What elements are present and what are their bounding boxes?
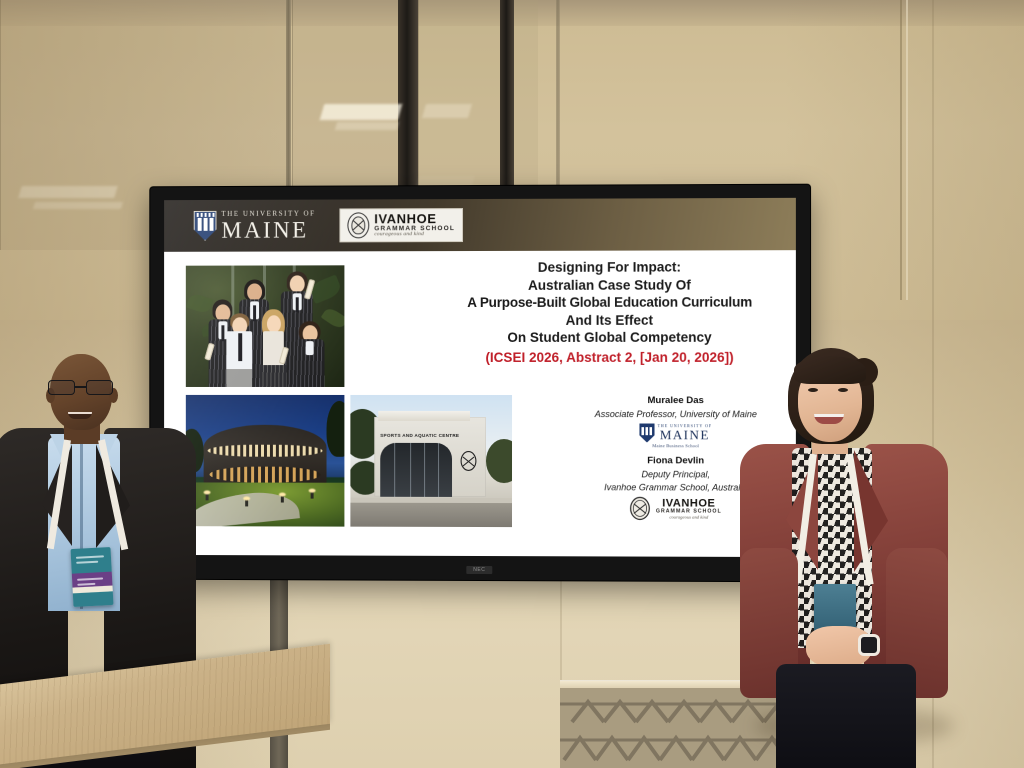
slide-title-line-2: Australian Case Study Of bbox=[430, 276, 790, 294]
slide-title-block: Designing For Impact: Australian Case St… bbox=[430, 258, 790, 366]
right-presenter-trousers bbox=[776, 664, 916, 768]
sports-aquatic-centre-photo: SPORTS AND AQUATIC CENTRE bbox=[350, 395, 512, 527]
umaine-small-shield-icon bbox=[639, 424, 654, 443]
left-presenter-glasses bbox=[48, 380, 116, 395]
umaine-logo-line-small: THE UNIVERSITY OF bbox=[221, 210, 315, 217]
ivanhoe-credits-line3: courageous and kind bbox=[656, 515, 722, 520]
campus-building-night-photo bbox=[186, 395, 345, 527]
presentation-slide: THE UNIVERSITY OF MAINE IVANHOE GRAMMAR … bbox=[164, 198, 796, 557]
slide-title-line-3: A Purpose-Built Global Education Curricu… bbox=[430, 294, 790, 312]
slide-title-line-1: Designing For Impact: bbox=[430, 258, 790, 276]
ivanhoe-crest-small-icon bbox=[630, 497, 651, 521]
ceiling-light-reflection-1 bbox=[320, 104, 403, 120]
ivanhoe-logo-line3: courageous and kind bbox=[374, 232, 455, 238]
ivanhoe-crest-icon bbox=[347, 212, 369, 238]
presenter-right-person bbox=[740, 348, 960, 768]
umaine-small-line-big: MAINE bbox=[658, 429, 712, 442]
display-screen: THE UNIVERSITY OF MAINE IVANHOE GRAMMAR … bbox=[164, 198, 796, 557]
slide-title-line-4: And Its Effect bbox=[430, 311, 790, 329]
slide-title-line-5: On Student Global Competency bbox=[430, 329, 790, 347]
ivanhoe-logo-line1: IVANHOE bbox=[374, 212, 455, 226]
slide-header-band: THE UNIVERSITY OF MAINE IVANHOE GRAMMAR … bbox=[164, 198, 796, 252]
maine-business-school-caption: Maine Business School bbox=[652, 444, 699, 449]
ivanhoe-grammar-school-logo: IVANHOE GRAMMAR SCHOOL courageous and ki… bbox=[339, 208, 463, 243]
university-of-maine-logo: THE UNIVERSITY OF MAINE bbox=[194, 210, 316, 241]
ivanhoe-credits-logo: IVANHOE GRAMMAR SCHOOL courageous and ki… bbox=[630, 497, 722, 521]
ceiling-light-reflection-3 bbox=[422, 104, 472, 118]
maine-business-school-logo: THE UNIVERSITY OF MAINE Maine Business S… bbox=[639, 424, 712, 449]
students-graduation-photo bbox=[186, 265, 345, 387]
sports-centre-sign-text: SPORTS AND AQUATIC CENTRE bbox=[380, 433, 466, 438]
conference-room-scene: THE UNIVERSITY OF MAINE IVANHOE GRAMMAR … bbox=[0, 0, 1024, 768]
left-presenter-conference-badge bbox=[71, 547, 114, 607]
ceiling-light-reflection-2 bbox=[335, 122, 399, 130]
sports-centre-crest-icon bbox=[460, 451, 477, 472]
wall-mounted-display[interactable]: THE UNIVERSITY OF MAINE IVANHOE GRAMMAR … bbox=[150, 185, 810, 582]
right-presenter-watch bbox=[858, 634, 880, 656]
umaine-shield-icon bbox=[194, 211, 217, 241]
slide-subtitle: (ICSEI 2026, Abstract 2, [Jan 20, 2026]) bbox=[430, 349, 790, 367]
umaine-logo-line-big: MAINE bbox=[221, 218, 315, 241]
display-brand-label: NEC bbox=[466, 566, 492, 574]
